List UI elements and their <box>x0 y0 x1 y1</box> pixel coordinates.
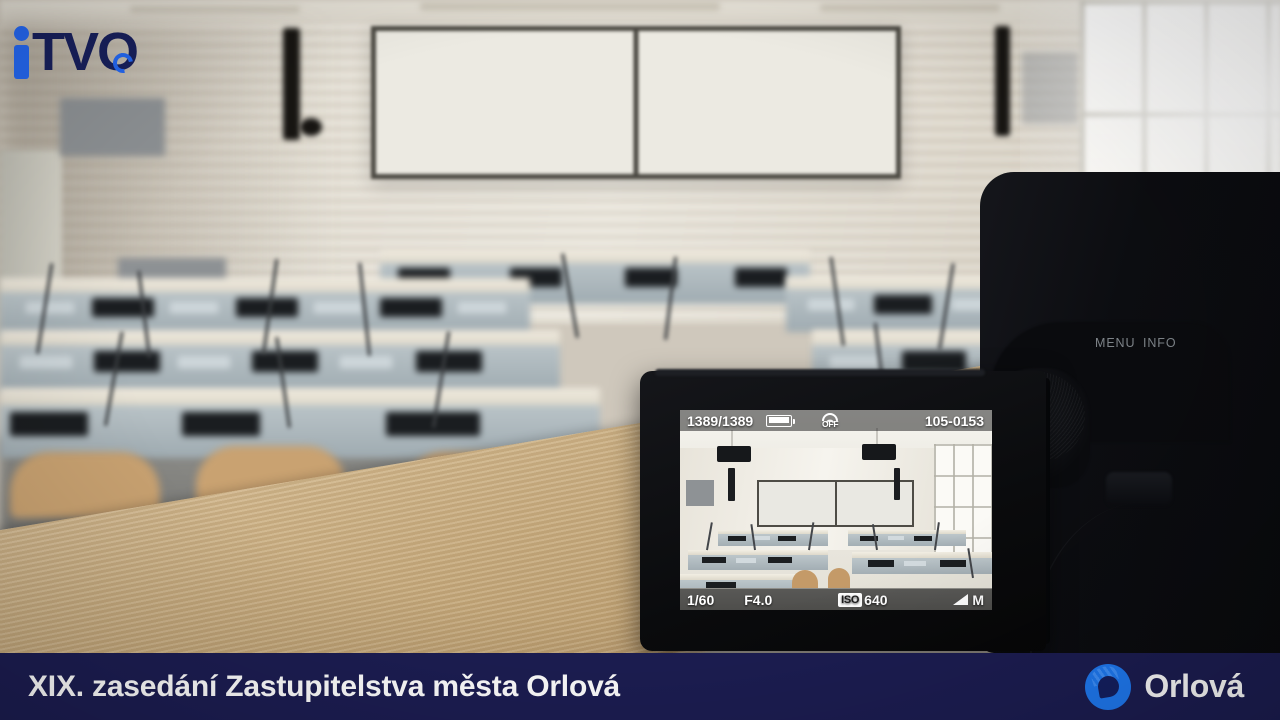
speaker-column <box>995 26 1010 136</box>
menu-button[interactable]: MENU <box>1095 336 1135 350</box>
screenshot-root: MENU INFO <box>0 0 1280 720</box>
projection-screens <box>371 26 901 179</box>
lcd-scene <box>680 410 992 610</box>
folder-file-number: 105-0153 <box>925 413 984 429</box>
shutter-speed-value: 1/60 <box>687 592 714 608</box>
ceiling-strip <box>820 4 1000 12</box>
itvo-letter-i <box>14 26 29 79</box>
ceiling-strip <box>420 2 720 11</box>
lcd-projection-screens <box>757 480 914 527</box>
frame-counter: 1389/1389 <box>687 413 753 429</box>
wall-panel <box>60 98 165 156</box>
itvo-logo: TVO <box>14 26 137 79</box>
lcd-bezel-lip <box>655 369 985 376</box>
lcd-hud-bottom: 1/60 F4.0 ISO 640 M <box>680 589 992 610</box>
orlova-swirl-eye-icon <box>1085 664 1131 710</box>
lcd-desk-row <box>688 550 828 570</box>
lcd-hud-top: 1389/1389 OFF 105-0153 <box>680 410 992 431</box>
orlova-logo[interactable]: Orlová <box>1085 664 1244 710</box>
wifi-icon: OFF <box>818 412 842 429</box>
i-stem <box>14 45 29 79</box>
image-quality-icon <box>953 594 968 605</box>
battery-full-icon <box>766 415 792 427</box>
projector-icon <box>717 446 751 462</box>
ceiling-strip <box>130 6 300 13</box>
projector-mount <box>300 118 322 136</box>
lcd-wall-panel <box>686 480 714 506</box>
iso-value: 640 <box>864 592 887 608</box>
orlova-label: Orlová <box>1144 668 1244 705</box>
bottom-banner: XIX. zasedání Zastupitelstva města Orlov… <box>0 653 1280 720</box>
lcd-speaker <box>728 468 735 501</box>
lcd-live-view[interactable]: 1389/1389 OFF 105-0153 1/60 F4.0 ISO 640 <box>680 410 992 610</box>
projector-icon <box>862 444 896 460</box>
page-title: XIX. zasedání Zastupitelstva města Orlov… <box>28 670 620 704</box>
lcd-desk-row <box>848 530 966 546</box>
iso-label: ISO <box>838 593 862 607</box>
wifi-state-label: OFF <box>822 420 838 429</box>
shooting-mode-value: M <box>972 592 984 608</box>
aperture-value: F4.0 <box>744 592 772 608</box>
lcd-speaker <box>894 468 900 500</box>
info-button[interactable]: INFO <box>1143 336 1176 350</box>
i-dot <box>14 26 29 41</box>
speaker-column <box>283 28 300 140</box>
camera-dial <box>1106 472 1172 506</box>
